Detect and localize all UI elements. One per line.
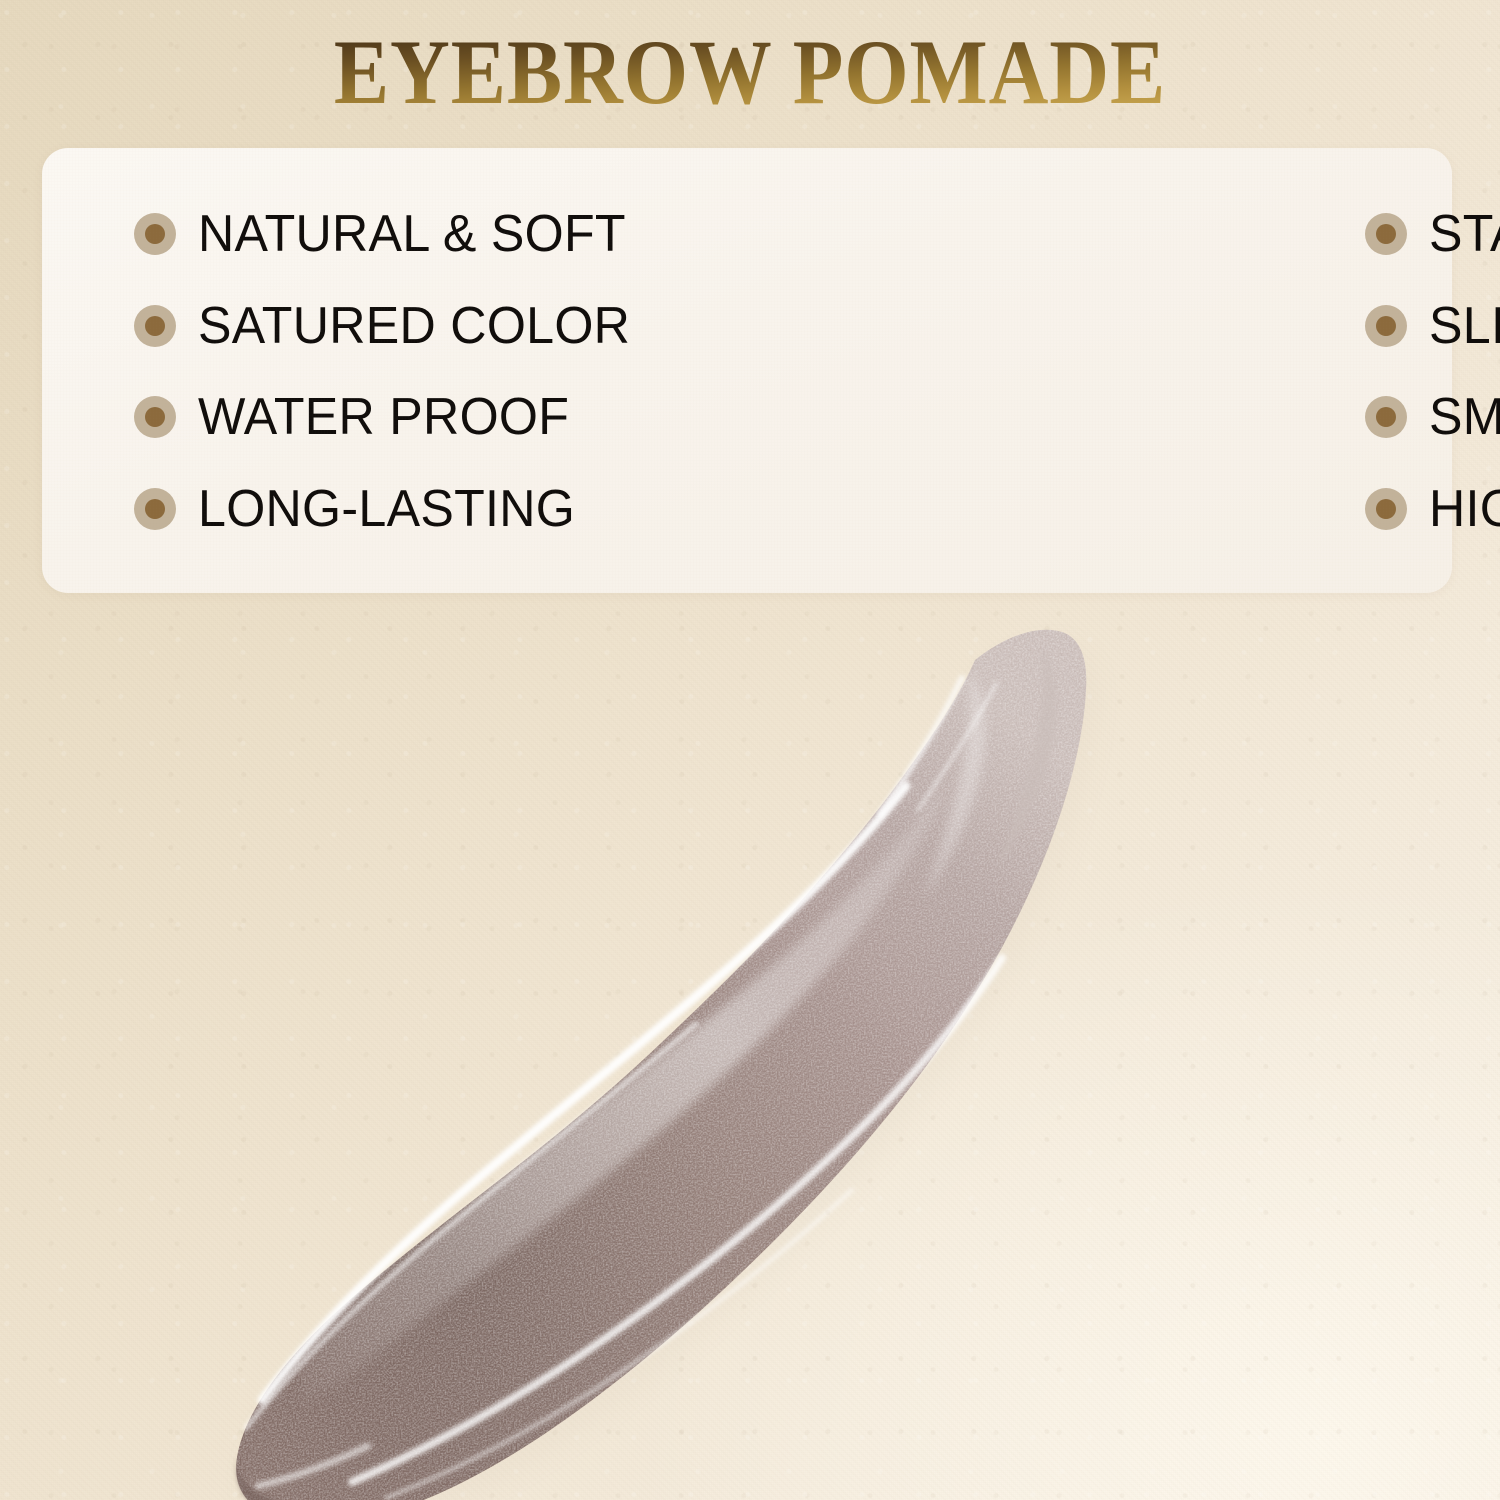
pomade-swatch (0, 600, 1500, 1500)
feature-label: SMUDGE PROOF (1429, 391, 1500, 443)
swatch-shadow (236, 630, 1086, 1500)
swatch-highlights (246, 678, 1002, 1498)
feature-label: STAY ALL DAY (1429, 208, 1500, 260)
bullet-dot-icon (1365, 305, 1407, 347)
bullet-dot-icon (134, 305, 176, 347)
bullet-dot-icon (1365, 396, 1407, 438)
feature-label: HIGH-PIGMENT FORMULA (1429, 483, 1500, 535)
swatch-tip-feather (924, 644, 1057, 898)
bullet-dot-icon (134, 488, 176, 530)
feature-item-high-pigment-formula: HIGH-PIGMENT FORMULA (700, 483, 1452, 535)
bullet-dot-icon (1365, 488, 1407, 530)
feature-label: WATER PROOF (198, 391, 569, 443)
feature-item-natural-soft: NATURAL & SOFT (42, 208, 700, 260)
feature-label: SATURED COLOR (198, 300, 630, 352)
feature-item-satured-color: SATURED COLOR (42, 300, 700, 352)
feature-item-stay-all-day: STAY ALL DAY (700, 208, 1452, 260)
feature-label: LONG-LASTING (198, 483, 575, 535)
bullet-dot-icon (1365, 213, 1407, 255)
feature-grid: NATURAL & SOFT STAY ALL DAY SATURED COLO… (42, 148, 1452, 593)
feature-label: SLIDE SMOOTHLY (1429, 300, 1500, 352)
product-graphic-canvas: EYEBROW POMADE NATURAL & SOFT STAY ALL D… (0, 0, 1500, 1500)
swatch-blob-shading (236, 1452, 402, 1500)
feature-card: NATURAL & SOFT STAY ALL DAY SATURED COLO… (42, 148, 1452, 593)
feature-label: NATURAL & SOFT (198, 208, 626, 260)
feature-item-smudge-proof: SMUDGE PROOF (700, 391, 1452, 443)
product-swatch-region (0, 600, 1500, 1500)
bullet-dot-icon (134, 396, 176, 438)
feature-item-slide-smoothly: SLIDE SMOOTHLY (700, 300, 1452, 352)
swatch-body (236, 630, 1086, 1500)
feature-item-water-proof: WATER PROOF (42, 391, 700, 443)
bullet-dot-icon (134, 213, 176, 255)
page-title: EYEBROW POMADE (75, 26, 1425, 118)
feature-item-long-lasting: LONG-LASTING (42, 483, 700, 535)
swatch-sheen (300, 780, 948, 1406)
